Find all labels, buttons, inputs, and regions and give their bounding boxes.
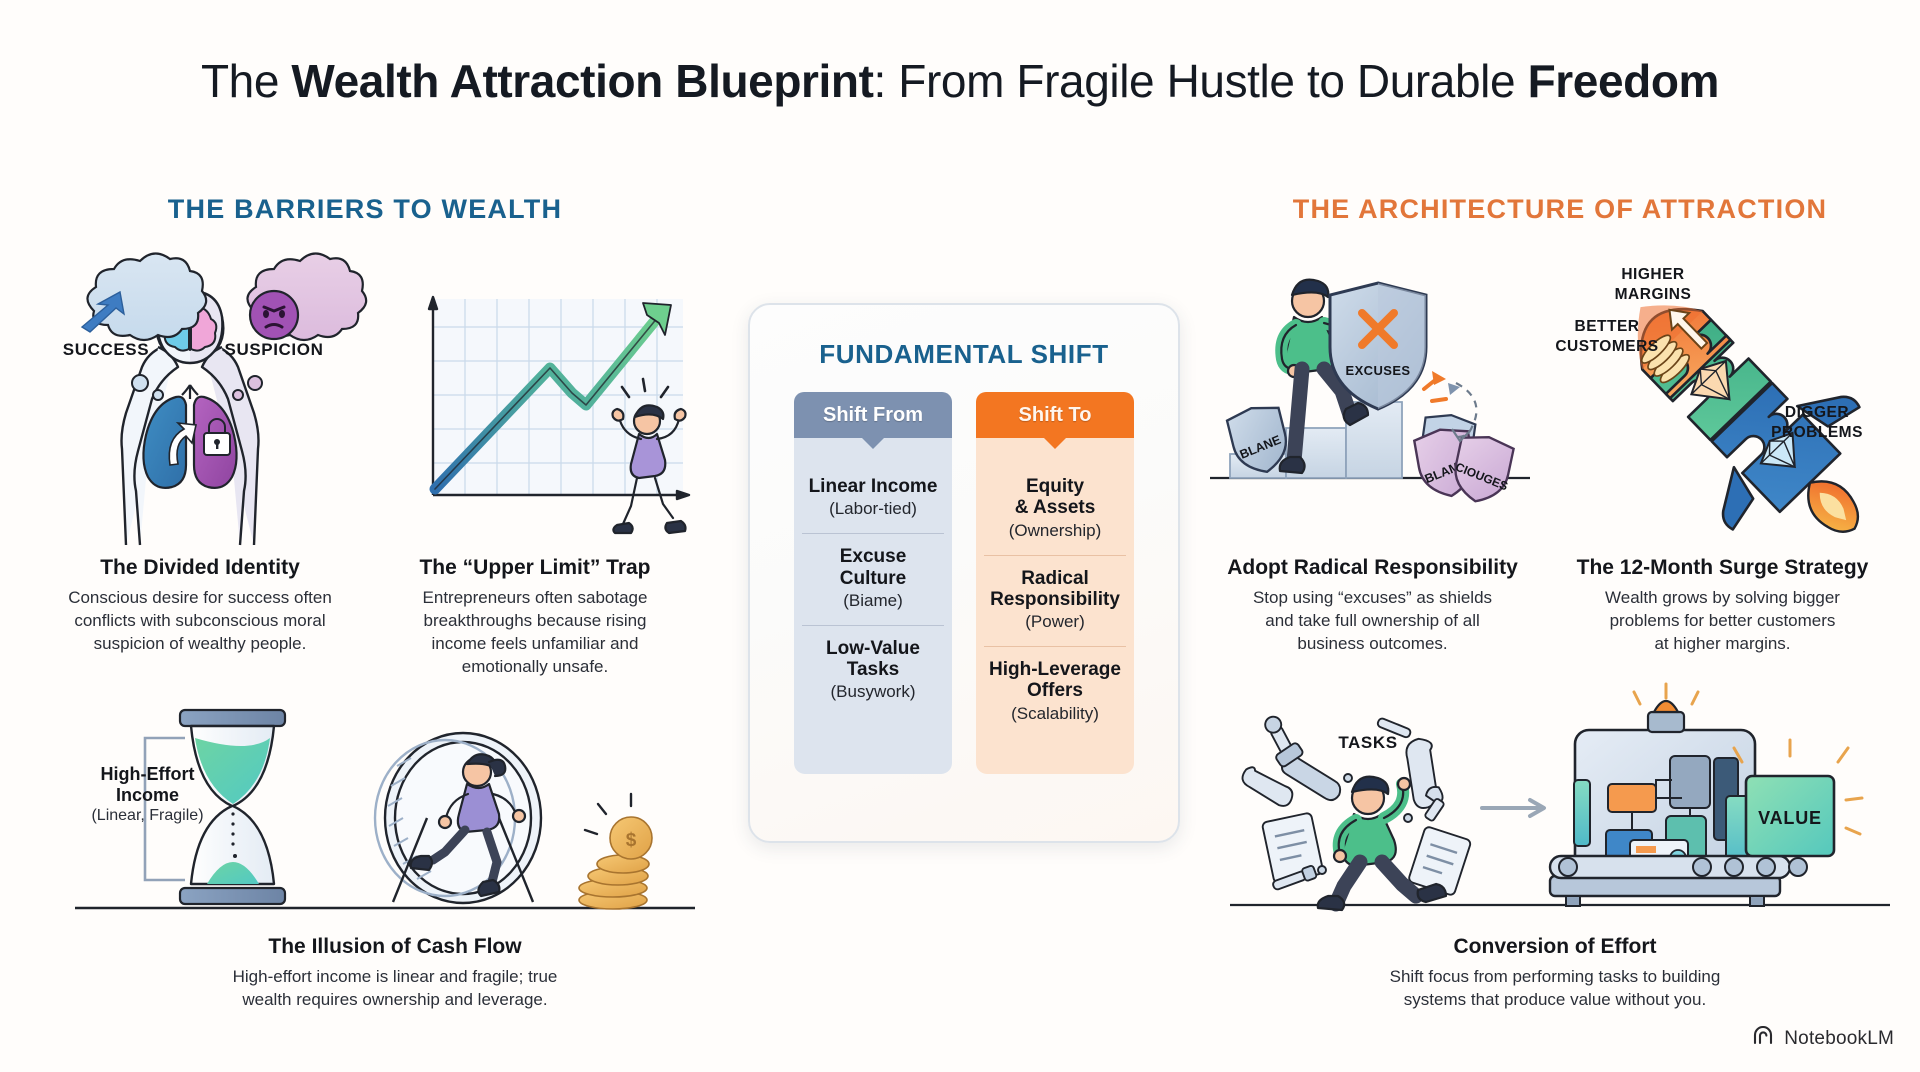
item-main: Excuse Culture: [804, 546, 942, 589]
caption-desc: Entrepreneurs often sabotage breakthroug…: [385, 587, 685, 679]
illustration-conversion-of-effort: TASKS: [1230, 700, 1890, 930]
section-heading-architecture: THE ARCHITECTURE OF ATTRACTION: [1195, 194, 1920, 225]
caption-desc: Shift focus from performing tasks to bui…: [1205, 966, 1905, 1012]
shift-to-header-label: Shift To: [1019, 404, 1092, 427]
shift-from-column: Shift From Linear Income (Labor-tied) Ex…: [794, 392, 952, 774]
item-main: Equity & Assets: [986, 476, 1124, 519]
shift-to-item: Equity & Assets (Ownership): [984, 464, 1126, 555]
caption-divided-identity: The Divided Identity Conscious desire fo…: [40, 556, 360, 656]
svg-text:DIGGER: DIGGER: [1785, 404, 1849, 421]
shift-columns: Shift From Linear Income (Labor-tied) Ex…: [750, 392, 1178, 774]
svg-text:PROBLEMS: PROBLEMS: [1771, 424, 1863, 441]
svg-text:CUSTOMERS: CUSTOMERS: [1555, 338, 1658, 355]
svg-text:SUCCESS: SUCCESS: [63, 340, 149, 359]
notebooklm-label: NotebookLM: [1784, 1028, 1894, 1050]
caption-conversion-of-effort: Conversion of Effort Shift focus from pe…: [1205, 935, 1905, 1012]
title-middle: : From Fragile Hustle to Durable: [874, 55, 1528, 107]
item-main: Linear Income: [804, 476, 942, 497]
notebooklm-icon: [1752, 1026, 1776, 1052]
shift-from-item: Linear Income (Labor-tied): [802, 464, 944, 533]
shift-from-item: Low-Value Tasks (Busywork): [802, 625, 944, 717]
shift-from-body: Linear Income (Labor-tied) Excuse Cultur…: [794, 438, 952, 774]
caption-desc: Stop using “excuses” as shields and take…: [1195, 587, 1550, 656]
callout-title-2: Income: [85, 785, 210, 806]
caption-title: Adopt Radical Responsibility: [1195, 556, 1550, 580]
caption-title: The Divided Identity: [40, 556, 360, 580]
item-sub: (Ownership): [986, 521, 1124, 541]
shift-to-header: Shift To: [976, 392, 1134, 438]
item-main: Radical Responsibility: [986, 568, 1124, 611]
section-heading-barriers: THE BARRIERS TO WEALTH: [130, 194, 600, 225]
svg-text:BETTER: BETTER: [1575, 318, 1640, 335]
item-main: High-Leverage Offers: [986, 659, 1124, 702]
illustration-surge-rocket: HIGHER MARGINS BETTER CUSTOMERS DIGGER P…: [1545, 255, 1905, 545]
caption-title: Conversion of Effort: [1205, 935, 1905, 959]
title-bold-first: Wealth Attraction Blueprint: [291, 55, 873, 107]
shift-to-body: Equity & Assets (Ownership) Radical Resp…: [976, 438, 1134, 774]
illustration-divided-identity: SUCCESS SUSPICION: [40, 255, 370, 545]
illustration-upper-limit-chart: [405, 275, 705, 545]
footer-brand: NotebookLM: [1752, 1026, 1894, 1052]
svg-text:TASKS: TASKS: [1338, 733, 1397, 752]
caption-title: The 12-Month Surge Strategy: [1545, 556, 1900, 580]
item-sub: (Labor-tied): [804, 499, 942, 519]
caption-adopt-radical-responsibility: Adopt Radical Responsibility Stop using …: [1195, 556, 1550, 656]
shift-from-header-label: Shift From: [823, 404, 923, 427]
illustration-radical-responsibility: EXCUSES BLANE BLAME CIOUGES: [1210, 265, 1530, 545]
shift-to-item: Radical Responsibility (Power): [984, 555, 1126, 647]
item-sub: (Busywork): [804, 682, 942, 702]
svg-text:HIGHER: HIGHER: [1621, 266, 1684, 283]
title-prefix: The: [201, 55, 291, 107]
page-title: The Wealth Attraction Blueprint: From Fr…: [0, 54, 1920, 108]
caption-upper-limit-trap: The “Upper Limit” Trap Entrepreneurs oft…: [385, 556, 685, 679]
svg-text:EXCUSES: EXCUSES: [1346, 363, 1411, 378]
shift-to-column: Shift To Equity & Assets (Ownership) Rad…: [976, 392, 1134, 774]
fundamental-shift-title: FUNDAMENTAL SHIFT: [750, 339, 1178, 370]
shift-from-header: Shift From: [794, 392, 952, 438]
caption-desc: High-effort income is linear and fragile…: [105, 966, 685, 1012]
callout-high-effort-income: High-Effort Income (Linear, Fragile): [85, 764, 210, 825]
fundamental-shift-card: FUNDAMENTAL SHIFT Shift From Linear Inco…: [748, 303, 1180, 843]
item-sub: (Power): [986, 612, 1124, 632]
caption-illusion-of-cash-flow: The Illusion of Cash Flow High-effort in…: [105, 935, 685, 1012]
svg-text:VALUE: VALUE: [1758, 808, 1822, 828]
caption-desc: Conscious desire for success often confl…: [40, 587, 360, 656]
shift-to-item: High-Leverage Offers (Scalability): [984, 646, 1126, 738]
item-sub: (Biame): [804, 591, 942, 611]
svg-text:SUSPICION: SUSPICION: [225, 340, 324, 359]
callout-title: High-Effort: [85, 764, 210, 785]
svg-text:MARGINS: MARGINS: [1615, 286, 1692, 303]
callout-subtitle: (Linear, Fragile): [85, 807, 210, 825]
shift-from-item: Excuse Culture (Biame): [802, 533, 944, 625]
svg-text:$: $: [626, 830, 637, 851]
caption-desc: Wealth grows by solving bigger problems …: [1545, 587, 1900, 656]
caption-title: The Illusion of Cash Flow: [105, 935, 685, 959]
caption-title: The “Upper Limit” Trap: [385, 556, 685, 580]
caption-12-month-surge-strategy: The 12-Month Surge Strategy Wealth grows…: [1545, 556, 1900, 656]
item-main: Low-Value Tasks: [804, 638, 942, 681]
title-bold-second: Freedom: [1528, 55, 1719, 107]
item-sub: (Scalability): [986, 704, 1124, 724]
